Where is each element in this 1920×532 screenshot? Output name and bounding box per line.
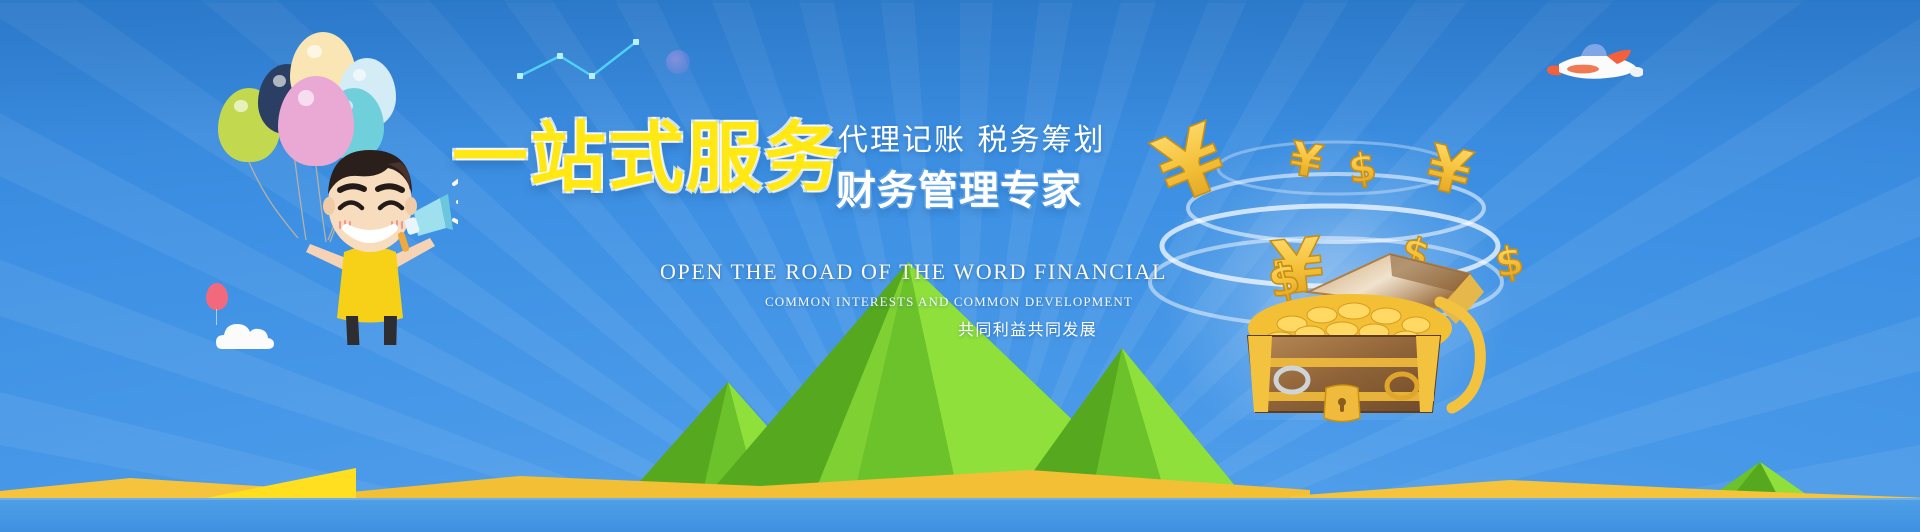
svg-text:¥: ¥ xyxy=(1141,103,1240,226)
tagline-chinese: 共同利益共同发展 xyxy=(958,316,1097,340)
headline-main: 一站式服务 xyxy=(452,96,842,206)
subtitle-expert: 财务管理专家 xyxy=(836,158,1082,216)
subtitle-services: 代理记账 税务筹划 xyxy=(838,115,1106,159)
water-strip xyxy=(0,498,1920,532)
tagline-english-sub: COMMON INTERESTS AND COMMON DEVELOPMENT xyxy=(765,294,1133,310)
promotional-banner: ¥ ¥ $ ¥ ¥ $ $ $ xyxy=(0,0,1920,532)
chest-body xyxy=(1248,336,1440,422)
treasure-chest-illustration: ¥ ¥ $ ¥ ¥ $ $ $ xyxy=(1140,96,1530,426)
svg-text:¥: ¥ xyxy=(1419,130,1479,211)
top-edge-line xyxy=(0,0,1920,3)
plane-nose xyxy=(1547,66,1561,76)
decor-orb xyxy=(666,50,690,74)
plane-stripe xyxy=(1567,65,1599,74)
plane-cockpit xyxy=(1581,44,1607,56)
airplane-icon xyxy=(1545,36,1643,92)
svg-text:$: $ xyxy=(1345,144,1379,193)
growth-line-chart-icon xyxy=(516,30,646,88)
svg-text:$: $ xyxy=(1492,237,1527,287)
svg-text:¥: ¥ xyxy=(1286,131,1327,190)
tagline-english-main: OPEN THE ROAD OF THE WORD FINANCIAL xyxy=(660,259,1167,285)
